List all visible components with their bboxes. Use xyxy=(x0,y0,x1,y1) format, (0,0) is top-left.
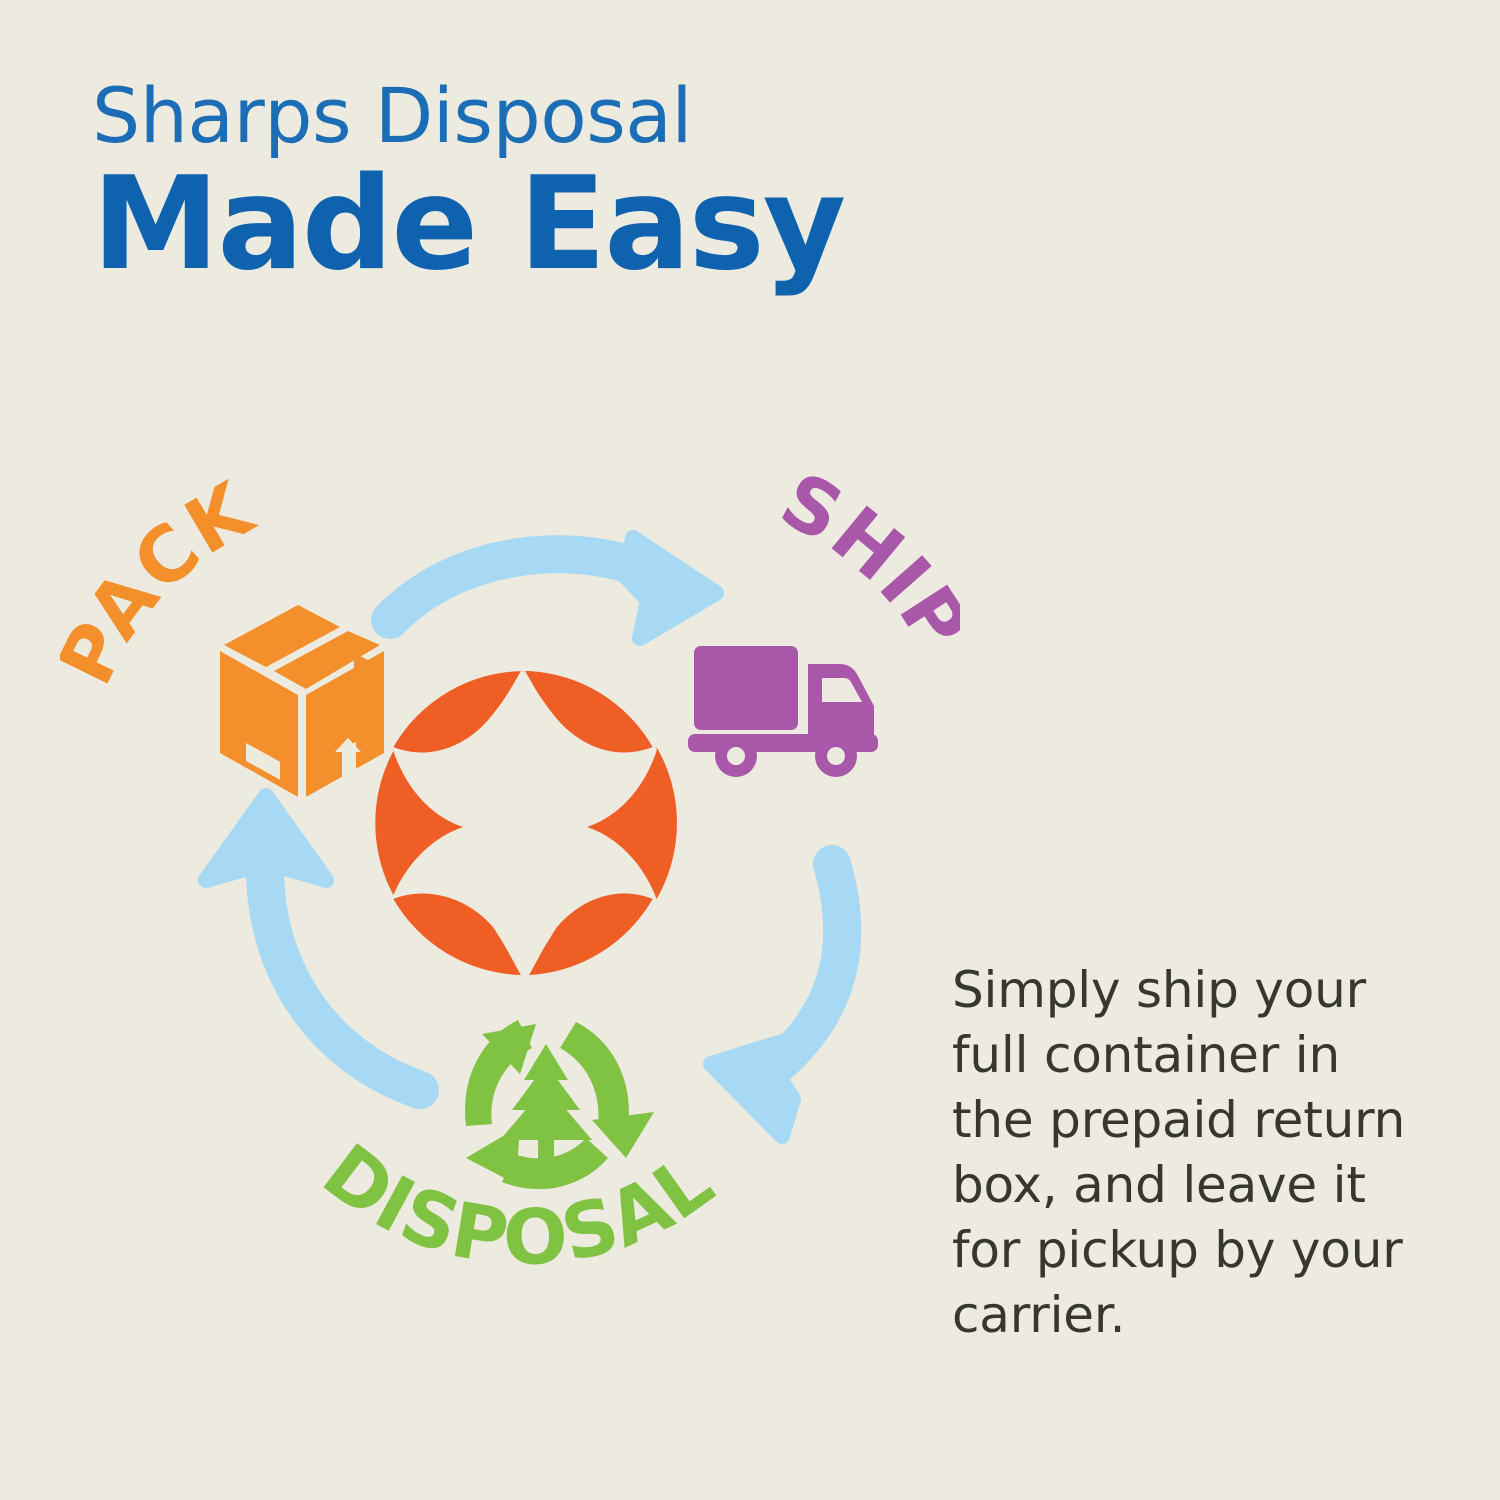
description-paragraph: Simply ship your full container in the p… xyxy=(952,958,1422,1348)
title-eyebrow: Sharps Disposal xyxy=(92,78,1092,154)
delivery-truck-icon xyxy=(688,646,878,777)
arrow-ship-to-disposal xyxy=(711,864,842,1136)
orange-star-burst-emblem xyxy=(375,671,677,975)
cycle-diagram: PACK SHIP DISPOSAL xyxy=(60,460,960,1300)
arrow-pack-to-ship xyxy=(390,538,716,638)
step-label-ship: SHIP xyxy=(767,460,960,667)
recycle-tree-icon xyxy=(465,1020,654,1189)
step-label-ship-text: SHIP xyxy=(767,460,960,667)
title-main: Made Easy xyxy=(92,160,1092,291)
package-box-icon xyxy=(220,605,384,797)
infographic-canvas: Sharps Disposal Made Easy xyxy=(0,0,1500,1500)
page-title: Sharps Disposal Made Easy xyxy=(92,78,1092,291)
